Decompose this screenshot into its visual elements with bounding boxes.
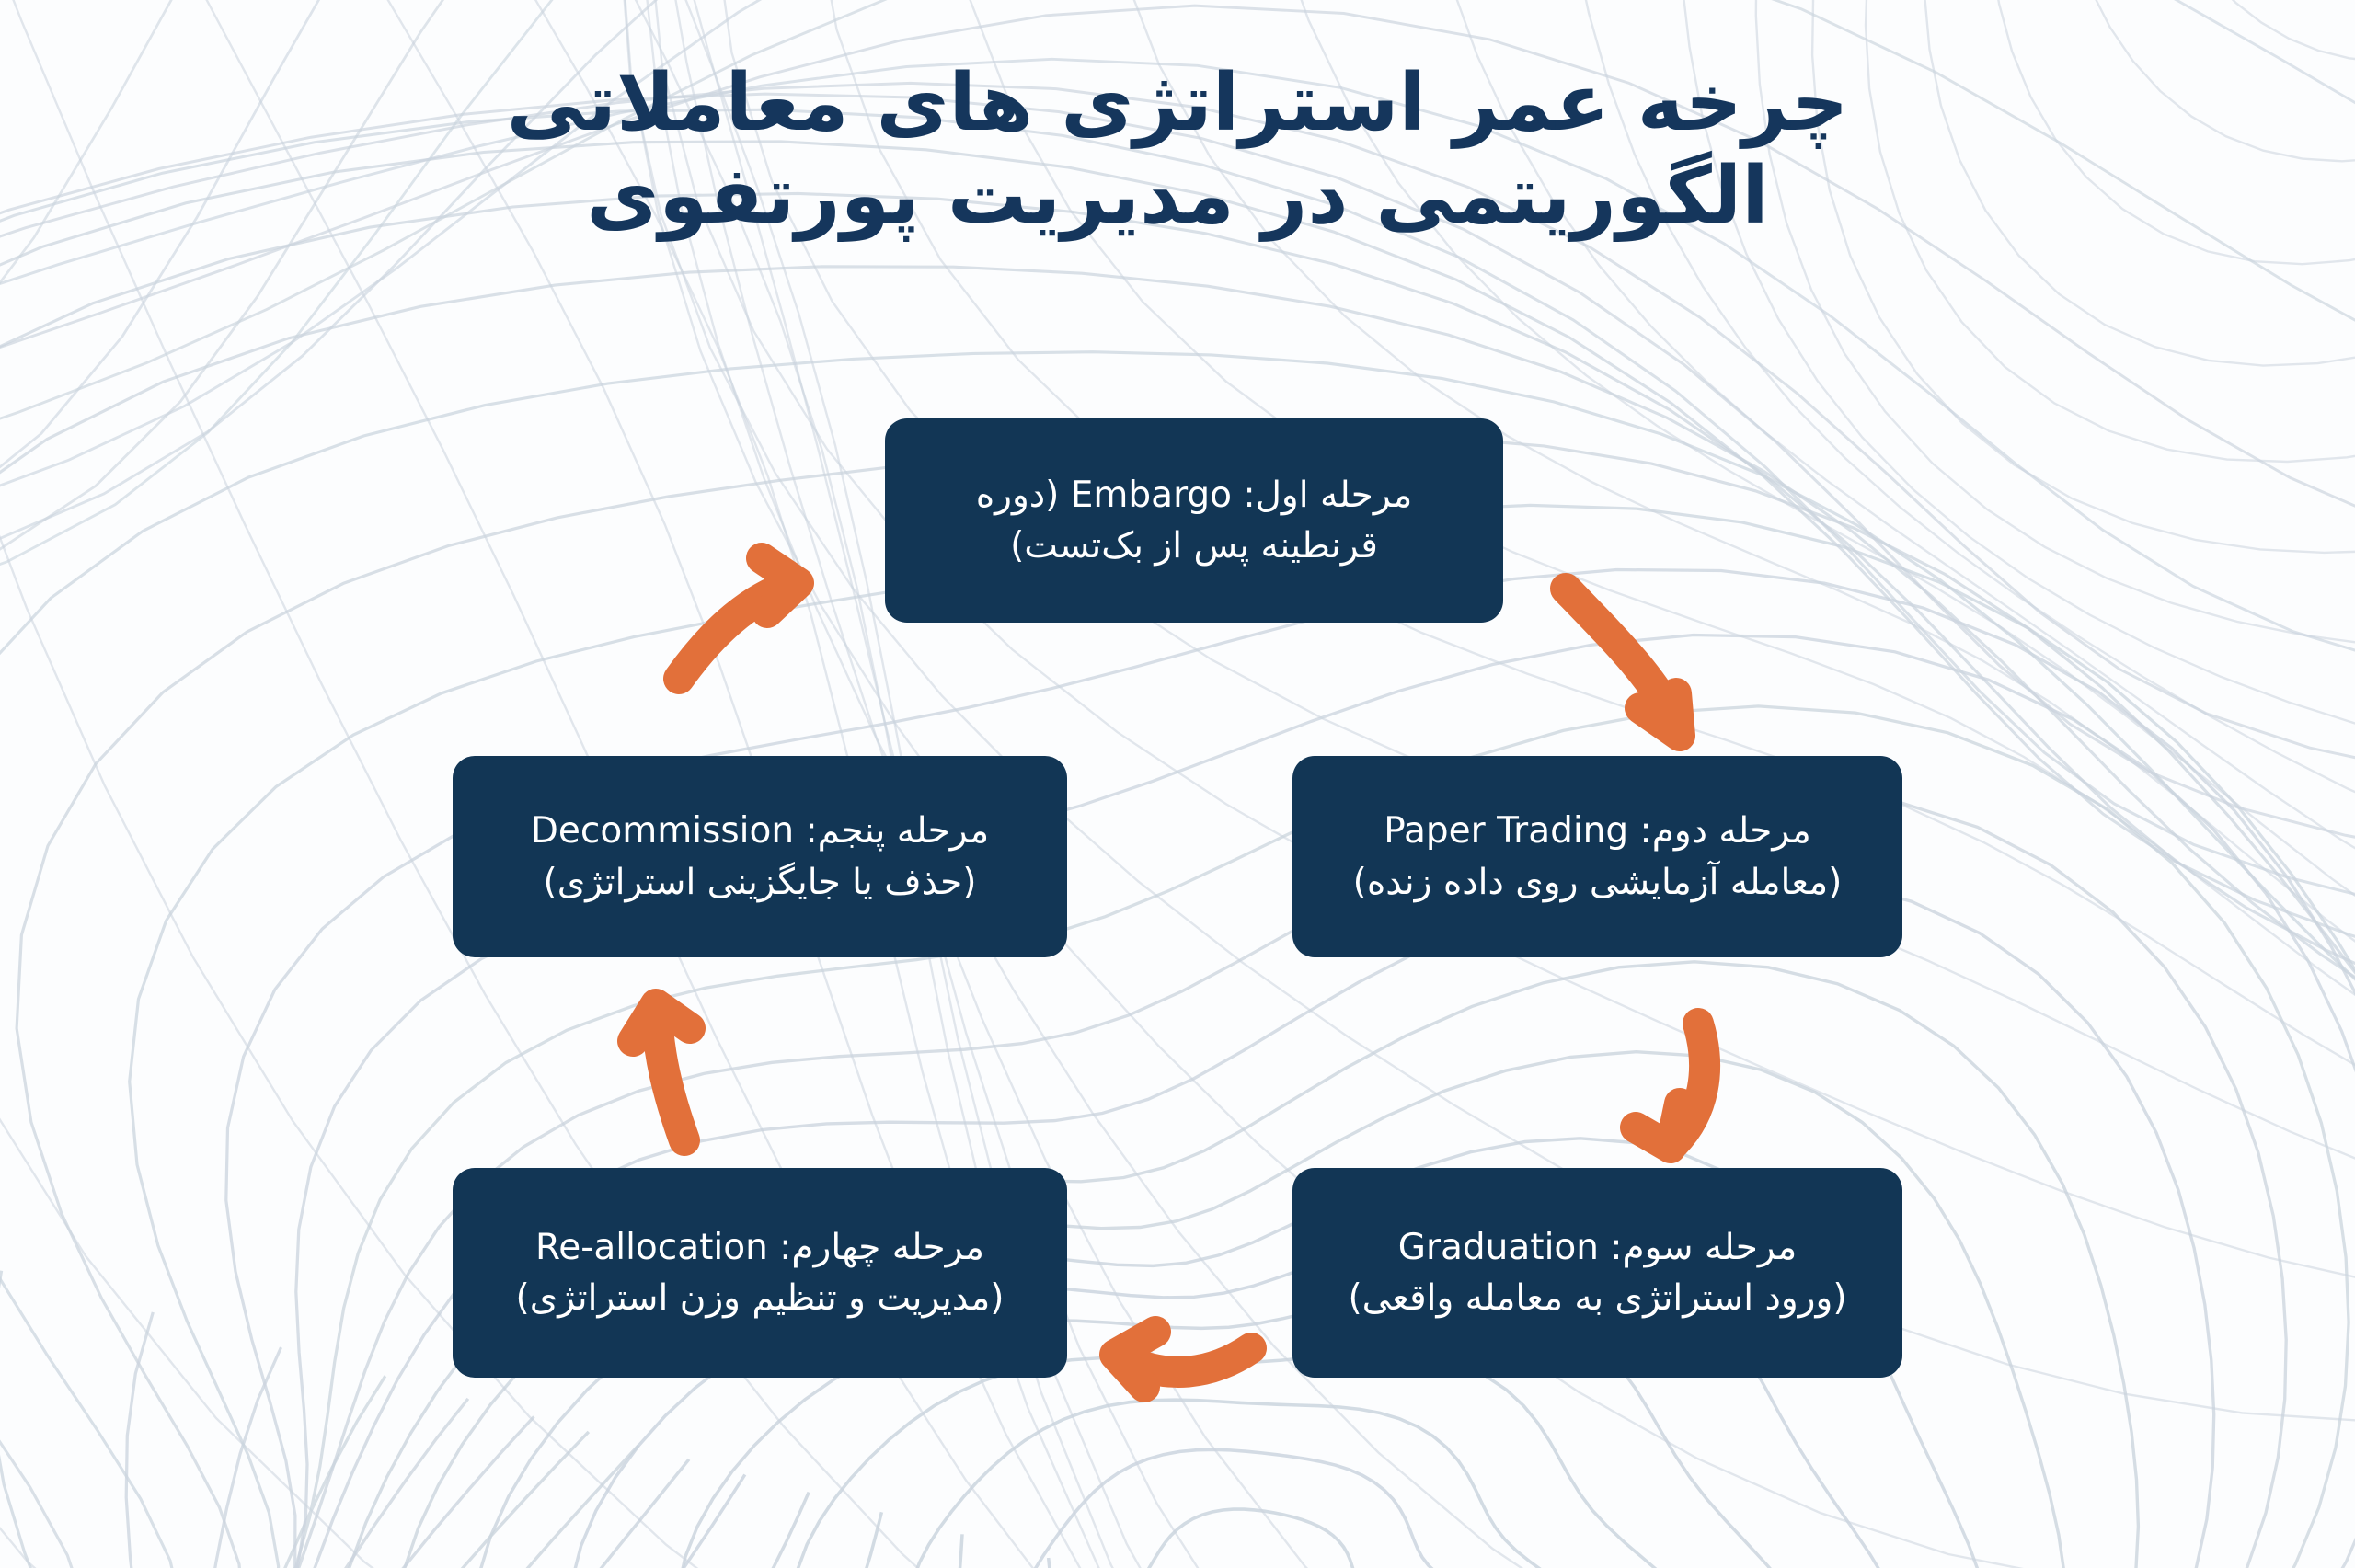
arrow-stage4-to-stage5-icon: [633, 1004, 690, 1140]
stage-4-line-2: (مدیریت و تنظیم وزن استراتژی): [516, 1277, 1005, 1319]
stage-box-2-paper-trading[interactable]: مرحله دوم: Paper Trading (معامله آزمایشی…: [1292, 756, 1902, 957]
stage-1-line-1: مرحله اول: Embargo (دوره: [976, 475, 1413, 516]
arrow-stage3-to-stage4-icon: [1115, 1332, 1251, 1387]
page-title-line-1: چرخه عمر استراتژی های معاملاتی: [0, 57, 2355, 150]
stage-2-line-2: (معامله آزمایشی روی داده زنده): [1353, 862, 1843, 903]
stage-3-line-2: (ورود استراتژی به معامله واقعی): [1348, 1277, 1846, 1319]
stage-2-line-1: مرحله دوم: Paper Trading: [1384, 810, 1811, 852]
arrow-stage2-to-stage3-icon: [1636, 1024, 1705, 1148]
stage-box-1-label: مرحله اول: Embargo (دوره قرنطینه پس از ب…: [976, 470, 1413, 572]
stage-4-line-1: مرحله چهارم: Re-allocation: [535, 1227, 984, 1268]
stage-box-2-label: مرحله دوم: Paper Trading (معامله آزمایشی…: [1353, 806, 1843, 908]
stage-box-4-re-allocation[interactable]: مرحله چهارم: Re-allocation (مدیریت و تنظ…: [453, 1168, 1067, 1378]
stage-1-line-2: قرنطینه پس از بک‌تست): [1010, 525, 1378, 567]
stage-box-5-label: مرحله پنجم: Decommission (حذف یا جایگزین…: [531, 806, 989, 908]
arrow-stage5-to-stage1-icon: [679, 558, 798, 679]
stage-3-line-1: مرحله سوم: Graduation: [1398, 1227, 1797, 1268]
stage-5-line-2: (حذف یا جایگزینی استراتژی): [544, 862, 977, 903]
stage-box-1-embargo[interactable]: مرحله اول: Embargo (دوره قرنطینه پس از ب…: [885, 418, 1503, 623]
page-title: چرخه عمر استراتژی های معاملاتی الگوریتمی…: [0, 57, 2355, 244]
stage-5-line-1: مرحله پنجم: Decommission: [531, 810, 989, 852]
page-title-line-2: الگوریتمی در مدیریت پورتفوی: [0, 150, 2355, 243]
stage-box-3-graduation[interactable]: مرحله سوم: Graduation (ورود استراتژی به …: [1292, 1168, 1902, 1378]
stage-box-4-label: مرحله چهارم: Re-allocation (مدیریت و تنظ…: [516, 1222, 1005, 1324]
infographic-canvas: چرخه عمر استراتژی های معاملاتی الگوریتمی…: [0, 0, 2355, 1568]
stage-box-5-decommission[interactable]: مرحله پنجم: Decommission (حذف یا جایگزین…: [453, 756, 1067, 957]
stage-box-3-label: مرحله سوم: Graduation (ورود استراتژی به …: [1348, 1222, 1846, 1324]
arrow-stage1-to-stage2-icon: [1566, 589, 1680, 736]
